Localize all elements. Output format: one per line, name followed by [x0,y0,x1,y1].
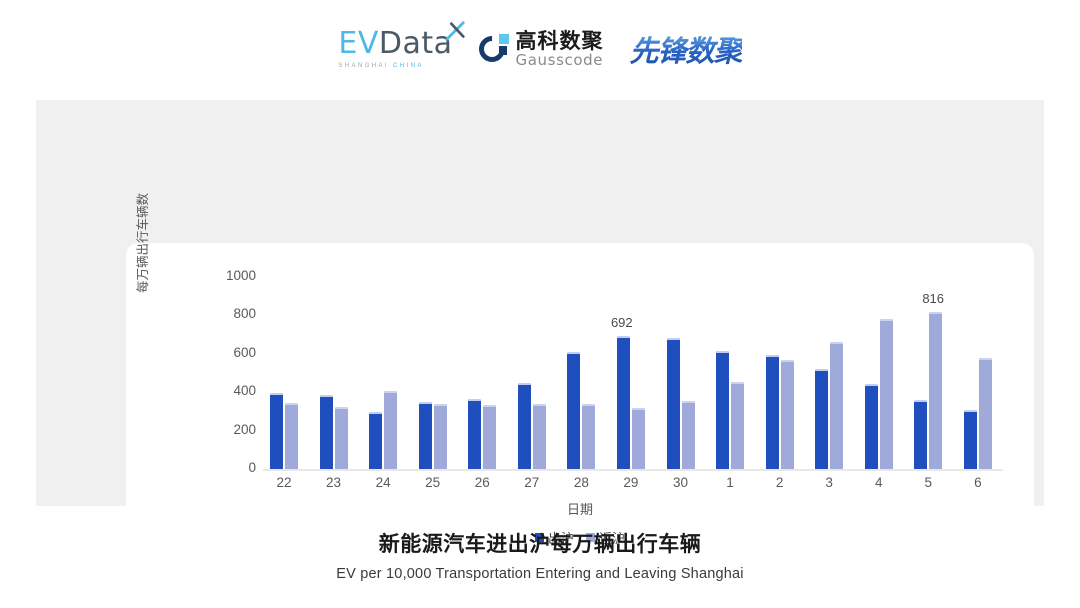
bar-out[interactable] [865,384,878,469]
bar-out[interactable] [964,410,977,469]
x-axis-tick: 29 [613,475,649,490]
bar-ret[interactable] [384,391,397,469]
y-axis-tick: 200 [212,422,256,437]
logo-evdata: EVData SHANGHAI CHINA [338,29,452,69]
x-axis-tick: 25 [415,475,451,490]
bar-out[interactable] [468,399,481,469]
bar-out[interactable] [270,393,283,469]
bar-out[interactable] [419,402,432,469]
evdata-tagline-country: CHINA [393,63,424,69]
bar-group [563,277,599,469]
bar-group [811,277,847,469]
caption-block: 新能源汽车进出沪每万辆出行车辆 EV per 10,000 Transporta… [0,528,1080,582]
x-axis-tick: 27 [514,475,550,490]
x-axis-tick: 26 [464,475,500,490]
evdata-tagline: SHANGHAI CHINA [338,63,423,69]
logo-xianfeng: 先锋数聚 [630,28,742,70]
x-axis-tick: 23 [316,475,352,490]
bar-out[interactable] [716,351,729,469]
x-axis-tick: 3 [811,475,847,490]
bar-ret[interactable] [533,404,546,469]
bar-value-label: 692 [611,315,633,330]
bar-out[interactable] [617,336,630,469]
y-axis-title-text: 每万辆出行车辆数 [132,193,151,293]
bar-series-container: 692816 [266,277,996,469]
bar-group [762,277,798,469]
bar-group [960,277,996,469]
bar-ret[interactable] [979,358,992,469]
y-axis-tick: 1000 [212,268,256,283]
bar-ret[interactable] [929,312,942,469]
bar-out[interactable] [518,383,531,469]
x-axis-tick: 30 [663,475,699,490]
bar-ret[interactable] [434,404,447,469]
bar-group: 816 [910,277,946,469]
x-axis-tick: 6 [960,475,996,490]
gausscode-name-en: Gausscode [516,53,604,68]
slide-root: EVData SHANGHAI CHINA 高科数聚 Gausscode [0,0,1080,608]
bar-ret[interactable] [335,407,348,469]
bar-group [712,277,748,469]
bar-group [514,277,550,469]
y-axis-tick: 400 [212,383,256,398]
bar-group [464,277,500,469]
gausscode-name-cn: 高科数聚 [516,31,604,52]
bar-out[interactable] [369,412,382,469]
x-axis-tick: 1 [712,475,748,490]
bar-group [663,277,699,469]
y-axis-tick: 600 [212,345,256,360]
x-axis-tick: 22 [266,475,302,490]
xianfeng-wordmark: 先锋数聚 [630,28,742,70]
x-axis-tick: 4 [861,475,897,490]
bar-ret[interactable] [682,401,695,469]
bar-value-label: 816 [922,291,944,306]
bar-out[interactable] [320,395,333,469]
x-axis-title: 日期 [126,499,1034,518]
bar-chart: 每万辆出行车辆数 10008006004002000 692816 222324… [126,243,1034,570]
bar-group [861,277,897,469]
bar-group [266,277,302,469]
evdata-wordmark-primary: EV [338,29,378,59]
bar-group [415,277,451,469]
bar-ret[interactable] [781,360,794,469]
bar-ret[interactable] [285,403,298,469]
bar-group [316,277,352,469]
chart-card: 每万辆出行车辆数 10008006004002000 692816 222324… [126,243,1034,570]
y-axis-tick: 0 [212,460,256,475]
bar-out[interactable] [667,338,680,469]
bar-out[interactable] [567,352,580,469]
bar-out[interactable] [815,369,828,469]
x-axis-tick: 5 [910,475,946,490]
x-mark-icon [444,20,466,42]
bar-out[interactable] [766,355,779,469]
bar-ret[interactable] [632,408,645,469]
evdata-wordmark-secondary: Data [379,29,453,59]
x-axis-baseline [263,469,1003,471]
logo-bar: EVData SHANGHAI CHINA 高科数聚 Gausscode [0,18,1080,80]
bar-ret[interactable] [880,319,893,469]
bar-ret[interactable] [582,404,595,469]
x-axis-tick: 24 [365,475,401,490]
chart-panel-background: 每万辆出行车辆数 10008006004002000 692816 222324… [36,100,1044,506]
gausscode-mark-icon [479,34,509,64]
x-axis-tick: 2 [762,475,798,490]
caption-title-en: EV per 10,000 Transportation Entering an… [0,566,1080,582]
bar-group: 692 [613,277,649,469]
x-axis-tick: 28 [563,475,599,490]
caption-title-cn: 新能源汽车进出沪每万辆出行车辆 [0,528,1080,558]
y-axis-tick: 800 [212,306,256,321]
evdata-tagline-city: SHANGHAI [338,63,389,69]
bar-ret[interactable] [830,342,843,469]
bar-group [365,277,401,469]
y-axis-title: 每万辆出行车辆数 [132,143,150,293]
evdata-wordmark: EVData [338,29,452,59]
logo-gausscode: 高科数聚 Gausscode [479,31,604,68]
x-axis-ticks: 222324252627282930123456 [266,475,996,490]
bar-ret[interactable] [483,405,496,469]
bar-out[interactable] [914,400,927,470]
bar-ret[interactable] [731,382,744,469]
